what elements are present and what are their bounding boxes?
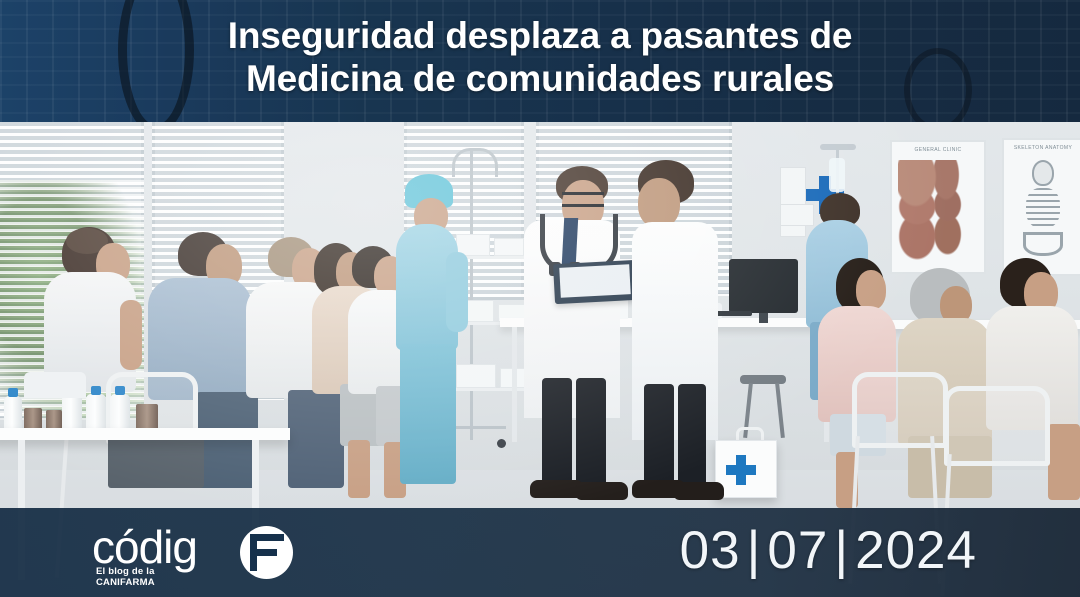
logo-wordmark: códig bbox=[92, 524, 197, 570]
date-separator-1: | bbox=[741, 521, 768, 580]
iv-stand-2-hook bbox=[820, 144, 856, 150]
headline-line-2: Medicina de comunidades rurales bbox=[0, 57, 1080, 100]
f-circle-logomark-icon bbox=[240, 526, 293, 579]
first-aid-cross-icon bbox=[726, 455, 756, 485]
footer-bar: códig El blog de la CANIFARMA 03|07|2024 bbox=[0, 508, 1080, 597]
date-year: 2024 bbox=[855, 521, 977, 580]
publish-date: 03|07|2024 bbox=[680, 522, 977, 580]
wall-chart-1 bbox=[780, 167, 806, 237]
article-banner: GENERAL CLINIC SKELETON ANATOMY bbox=[0, 0, 1080, 597]
header-bar: Inseguridad desplaza a pasantes de Medic… bbox=[0, 0, 1080, 122]
skeleton-diagram-icon bbox=[1012, 158, 1074, 270]
skeleton-poster-title: SKELETON ANATOMY bbox=[1004, 145, 1080, 151]
logo-tagline: El blog de la CANIFARMA bbox=[96, 566, 155, 588]
skeleton-poster: SKELETON ANATOMY bbox=[1002, 138, 1080, 276]
computer-monitor bbox=[729, 259, 798, 313]
iv-bag bbox=[829, 158, 845, 192]
eyeglasses-icon bbox=[562, 192, 604, 207]
chair-3 bbox=[944, 386, 1050, 466]
anatomy-poster-title: GENERAL CLINIC bbox=[892, 147, 984, 153]
anatomy-poster: GENERAL CLINIC bbox=[890, 140, 986, 274]
page-title: Inseguridad desplaza a pasantes de Medic… bbox=[0, 14, 1080, 100]
date-day: 03 bbox=[680, 521, 741, 580]
iv-stand-hook bbox=[452, 148, 498, 177]
date-month: 07 bbox=[767, 521, 828, 580]
headline-line-1: Inseguridad desplaza a pasantes de bbox=[0, 14, 1080, 57]
tray bbox=[24, 372, 86, 398]
monitor-base bbox=[716, 311, 752, 316]
wall-chart-2 bbox=[780, 204, 814, 226]
front-table bbox=[0, 428, 290, 440]
anatomy-diagram-icon bbox=[898, 160, 978, 266]
date-separator-2: | bbox=[828, 521, 855, 580]
